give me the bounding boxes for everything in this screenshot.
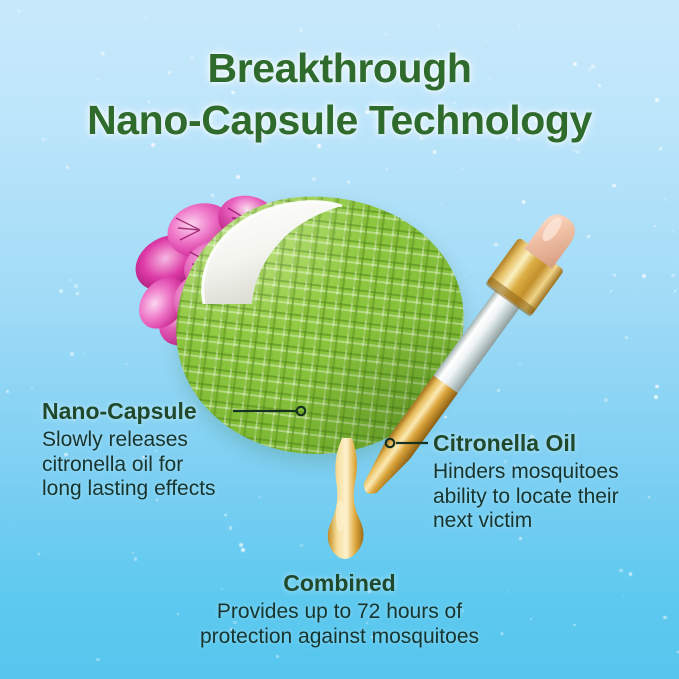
callout-body-citronella-oil: Hinders mosquitoes ability to locate the…: [433, 460, 619, 534]
callout-heading-citronella-oil: Citronella Oil: [433, 430, 576, 457]
oil-droplet: [328, 438, 364, 559]
page-title: Breakthrough Nano-Capsule Technology: [0, 42, 679, 146]
callout-body-nano-capsule: Slowly releases citronella oil for long …: [42, 428, 216, 502]
callout-heading-combined: Combined: [0, 570, 679, 597]
callout-body-combined: Provides up to 72 hours of protection ag…: [0, 599, 679, 649]
callout-heading-nano-capsule: Nano-Capsule: [42, 398, 197, 425]
page-title-line-1: Breakthrough: [0, 42, 679, 94]
infographic-canvas: Breakthrough Nano-Capsule Technology: [0, 0, 679, 679]
page-title-line-2: Nano-Capsule Technology: [0, 94, 679, 146]
